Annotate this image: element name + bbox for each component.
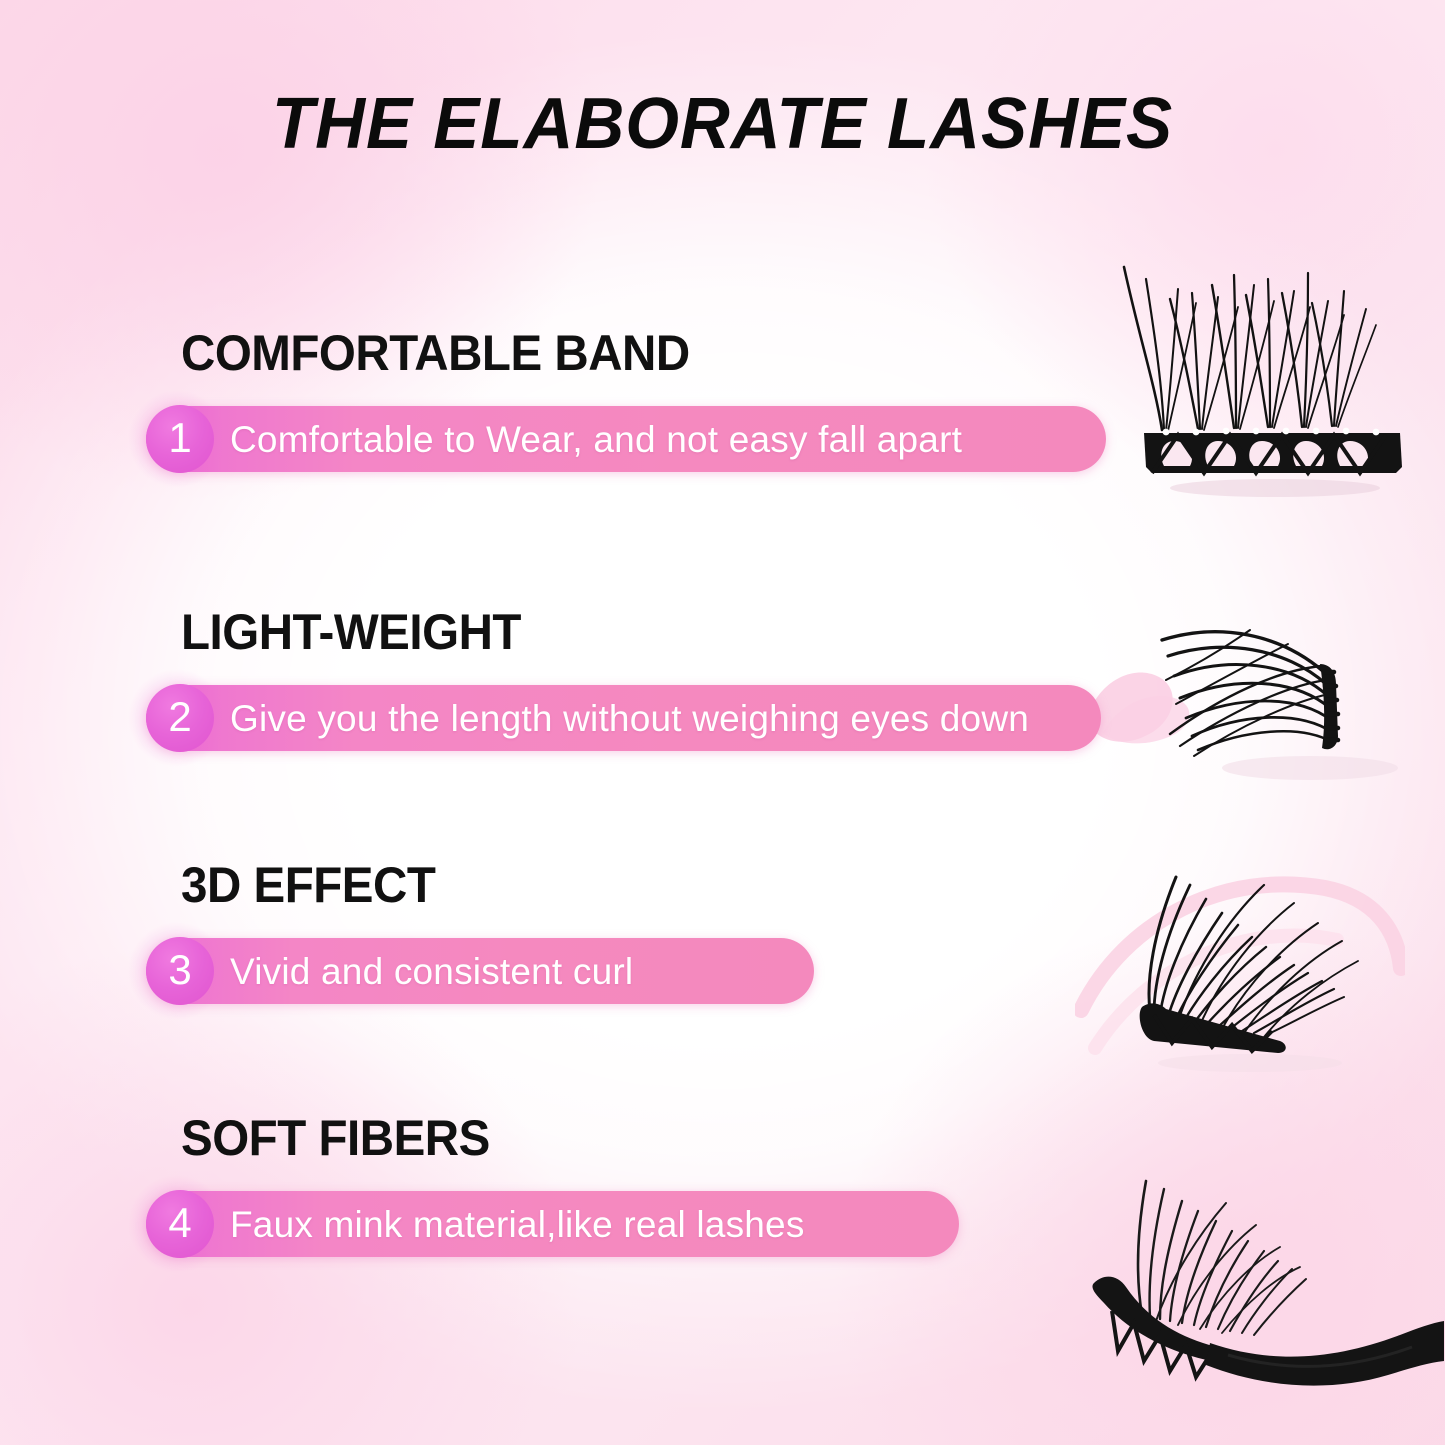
feature-number-badge-4: 4 [146, 1190, 214, 1258]
feature-number-3: 3 [168, 949, 191, 991]
lash-image-2 [1110, 600, 1440, 800]
feature-description-3: Vivid and consistent curl [230, 938, 633, 1004]
background-tint-bottom-right [835, 915, 1445, 1445]
feature-description-4: Faux mink material,like real lashes [230, 1191, 805, 1257]
feature-number-badge-1: 1 [146, 405, 214, 473]
feature-pill-1: Comfortable to Wear, and not easy fall a… [146, 406, 1106, 472]
feature-number-badge-3: 3 [146, 937, 214, 1005]
feature-pill-2: Give you the length without weighing eye… [146, 685, 1101, 751]
feature-pill-4: Faux mink material,like real lashes 4 [146, 1191, 959, 1257]
feature-number-4: 4 [168, 1202, 191, 1244]
feature-number-badge-2: 2 [146, 684, 214, 752]
feature-number-2: 2 [168, 696, 191, 738]
feature-number-1: 1 [168, 417, 191, 459]
feature-heading-4: SOFT FIBERS [181, 1113, 490, 1163]
feature-description-1: Comfortable to Wear, and not easy fall a… [230, 406, 962, 472]
feature-heading-2: LIGHT-WEIGHT [181, 607, 521, 657]
feature-pill-3: Vivid and consistent curl 3 [146, 938, 814, 1004]
feature-description-2: Give you the length without weighing eye… [230, 685, 1029, 751]
page-title: THE ELABORATE LASHES [29, 88, 1416, 160]
feature-heading-1: COMFORTABLE BAND [181, 328, 690, 378]
lash-image-3 [1080, 855, 1410, 1075]
lash-image-4 [1060, 1155, 1445, 1445]
lash-image-1 [1100, 245, 1430, 510]
product-feature-poster: THE ELABORATE LASHES COMFORTABLE BAND Co… [0, 0, 1445, 1445]
feature-heading-3: 3D EFFECT [181, 860, 435, 910]
decorative-swoosh-3 [1075, 860, 1405, 1080]
